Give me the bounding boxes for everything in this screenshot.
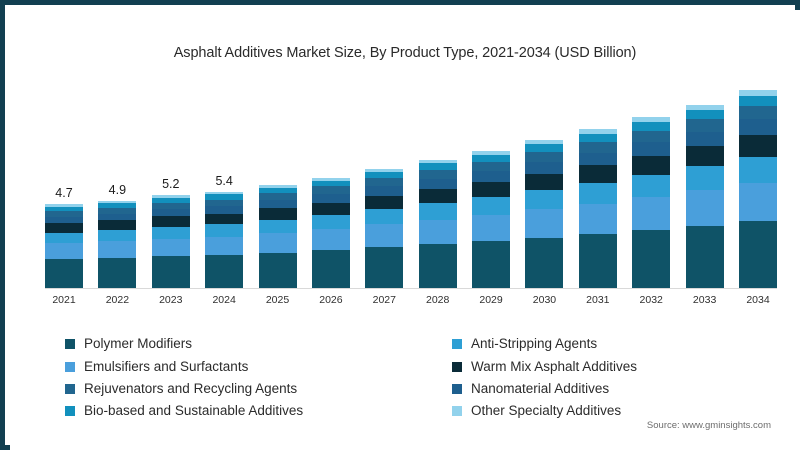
x-axis-tick-label: 2024 xyxy=(205,294,243,306)
legend-swatch-icon xyxy=(452,362,462,372)
x-axis-tick-label: 2030 xyxy=(525,294,563,306)
bar-segment xyxy=(419,203,457,220)
legend-item[interactable]: Bio-based and Sustainable Additives xyxy=(65,404,303,418)
legend-swatch-icon xyxy=(65,384,75,394)
chart-frame: Asphalt Additives Market Size, By Produc… xyxy=(0,0,800,450)
bar-segment xyxy=(632,122,670,131)
legend-item[interactable]: Warm Mix Asphalt Additives xyxy=(452,360,637,374)
bar-segment xyxy=(686,119,724,131)
bar-segment xyxy=(579,134,617,143)
bar-segment xyxy=(525,152,563,162)
bar-segment xyxy=(152,216,190,226)
x-axis-tick-label: 2034 xyxy=(739,294,777,306)
bar-segment xyxy=(686,132,724,147)
bar-column[interactable]: 5.2 xyxy=(152,195,190,288)
bar-column[interactable] xyxy=(632,117,670,288)
bar-segment xyxy=(259,208,297,219)
bar-segment xyxy=(739,106,777,119)
x-axis-tick-label: 2028 xyxy=(419,294,457,306)
x-axis-tick-label: 2021 xyxy=(45,294,83,306)
legend-label: Emulsifiers and Surfactants xyxy=(84,360,248,374)
plot-area: 4.74.95.25.4 xyxy=(45,83,777,288)
bar-column[interactable] xyxy=(579,129,617,288)
bar-segment xyxy=(98,220,136,230)
bar-segment xyxy=(632,131,670,142)
bar-segment xyxy=(205,255,243,288)
bar-segment xyxy=(365,247,403,288)
chart-title: Asphalt Additives Market Size, By Produc… xyxy=(5,45,800,61)
bar-segment xyxy=(525,190,563,209)
bar-column[interactable] xyxy=(472,151,510,288)
legend-swatch-icon xyxy=(452,406,462,416)
bar-segment xyxy=(472,215,510,241)
bar-segment xyxy=(259,253,297,288)
legend-swatch-icon xyxy=(65,362,75,372)
bar-segment xyxy=(419,163,457,170)
bar-segment xyxy=(419,244,457,288)
bar-segment xyxy=(579,142,617,153)
bar-segment xyxy=(419,170,457,178)
bar-segment xyxy=(259,200,297,208)
bar-segment xyxy=(365,186,403,196)
bar-segment xyxy=(205,224,243,236)
legend-item[interactable]: Anti-Stripping Agents xyxy=(452,337,597,351)
legend-item[interactable]: Nanomaterial Additives xyxy=(452,382,609,396)
bar-segment xyxy=(312,194,350,203)
bar-segment xyxy=(579,204,617,234)
legend-swatch-icon xyxy=(65,406,75,416)
legend-item[interactable]: Emulsifiers and Surfactants xyxy=(65,360,248,374)
bar-segment xyxy=(365,209,403,225)
x-axis-tick-label: 2033 xyxy=(686,294,724,306)
x-axis-labels: 2021202220232024202520262027202820292030… xyxy=(45,294,777,310)
bar-segment xyxy=(525,209,563,237)
bar-segment xyxy=(579,165,617,182)
bar-segment xyxy=(472,162,510,171)
bar-segment xyxy=(632,230,670,288)
bar-segment xyxy=(152,256,190,288)
bar-value-label: 5.4 xyxy=(215,174,232,188)
bar-segment xyxy=(419,189,457,203)
legend-label: Rejuvenators and Recycling Agents xyxy=(84,382,297,396)
bar-column[interactable] xyxy=(525,140,563,288)
bar-segment xyxy=(579,183,617,204)
bar-segment xyxy=(259,220,297,233)
bar-column[interactable] xyxy=(686,104,724,288)
bar-segment xyxy=(525,144,563,152)
bar-segment xyxy=(312,250,350,288)
legend-swatch-icon xyxy=(452,339,462,349)
bar-segment xyxy=(365,178,403,186)
bar-segment xyxy=(686,146,724,166)
bar-segment xyxy=(365,196,403,209)
bar-segment xyxy=(579,153,617,166)
bar-segment xyxy=(472,182,510,197)
legend-item[interactable]: Other Specialty Additives xyxy=(452,404,621,418)
x-axis-line xyxy=(45,288,777,289)
bar-segment xyxy=(579,234,617,288)
source-note: Source: www.gminsights.com xyxy=(647,420,771,431)
legend-label: Bio-based and Sustainable Additives xyxy=(84,404,303,418)
bar-segment xyxy=(98,258,136,288)
bar-segment xyxy=(739,96,777,107)
bar-column[interactable] xyxy=(419,160,457,288)
bar-value-label: 4.9 xyxy=(109,183,126,197)
bar-segment xyxy=(739,135,777,157)
bar-segment xyxy=(739,119,777,135)
bar-segment xyxy=(259,193,297,200)
bar-column[interactable]: 4.9 xyxy=(98,201,136,288)
bar-segment xyxy=(632,175,670,197)
bar-segment xyxy=(632,156,670,175)
x-axis-tick-label: 2031 xyxy=(579,294,617,306)
x-axis-tick-label: 2023 xyxy=(152,294,190,306)
legend-swatch-icon xyxy=(65,339,75,349)
bar-segment xyxy=(739,183,777,221)
bar-segment xyxy=(525,238,563,288)
legend-item[interactable]: Rejuvenators and Recycling Agents xyxy=(65,382,297,396)
bar-segment xyxy=(152,227,190,239)
bar-column[interactable] xyxy=(312,177,350,288)
bar-segment xyxy=(472,155,510,162)
bar-segment xyxy=(312,203,350,215)
x-axis-tick-label: 2022 xyxy=(98,294,136,306)
bar-segment xyxy=(205,214,243,225)
bar-segment xyxy=(419,179,457,189)
chart-legend: Polymer ModifiersAnti-Stripping AgentsEm… xyxy=(65,337,765,427)
bar-segment xyxy=(312,186,350,193)
x-axis-tick-label: 2026 xyxy=(312,294,350,306)
bar-segment xyxy=(739,157,777,183)
bar-segment xyxy=(472,197,510,215)
bar-segment xyxy=(45,223,83,232)
x-axis-tick-label: 2032 xyxy=(632,294,670,306)
bar-segment xyxy=(45,259,83,288)
bar-segment xyxy=(365,224,403,247)
bar-value-label: 5.2 xyxy=(162,177,179,191)
x-axis-tick-label: 2027 xyxy=(365,294,403,306)
bar-segment xyxy=(45,217,83,224)
legend-label: Warm Mix Asphalt Additives xyxy=(471,360,637,374)
bar-segment xyxy=(686,110,724,120)
legend-item[interactable]: Polymer Modifiers xyxy=(65,337,192,351)
bar-segment xyxy=(525,174,563,190)
bar-segment xyxy=(98,230,136,241)
bar-column[interactable] xyxy=(739,90,777,288)
bar-segment xyxy=(632,197,670,230)
bar-segment xyxy=(98,214,136,221)
legend-label: Anti-Stripping Agents xyxy=(471,337,597,351)
bar-segment xyxy=(686,166,724,190)
bar-segment xyxy=(632,142,670,156)
bar-segment xyxy=(739,221,777,288)
bar-segment xyxy=(45,233,83,244)
bar-segment xyxy=(259,233,297,253)
bar-segment xyxy=(472,171,510,182)
bar-segment xyxy=(686,190,724,225)
bar-segment xyxy=(205,237,243,256)
bar-segment xyxy=(419,220,457,245)
bar-column[interactable] xyxy=(259,185,297,288)
bar-segment xyxy=(205,206,243,214)
bar-segment xyxy=(98,241,136,258)
bar-segment xyxy=(45,243,83,259)
legend-swatch-icon xyxy=(452,384,462,394)
legend-label: Polymer Modifiers xyxy=(84,337,192,351)
bar-segment xyxy=(472,241,510,288)
bar-column[interactable] xyxy=(365,169,403,288)
bar-segment xyxy=(686,226,724,288)
bar-segment xyxy=(525,162,563,174)
x-axis-tick-label: 2029 xyxy=(472,294,510,306)
bar-segment xyxy=(312,229,350,250)
legend-label: Other Specialty Additives xyxy=(471,404,621,418)
bar-column[interactable]: 5.4 xyxy=(205,192,243,288)
bar-segment xyxy=(312,215,350,229)
legend-label: Nanomaterial Additives xyxy=(471,382,609,396)
bar-segment xyxy=(152,209,190,216)
bar-segment xyxy=(152,239,190,257)
x-axis-tick-label: 2025 xyxy=(259,294,297,306)
bar-column[interactable]: 4.7 xyxy=(45,204,83,288)
bar-value-label: 4.7 xyxy=(55,186,72,200)
